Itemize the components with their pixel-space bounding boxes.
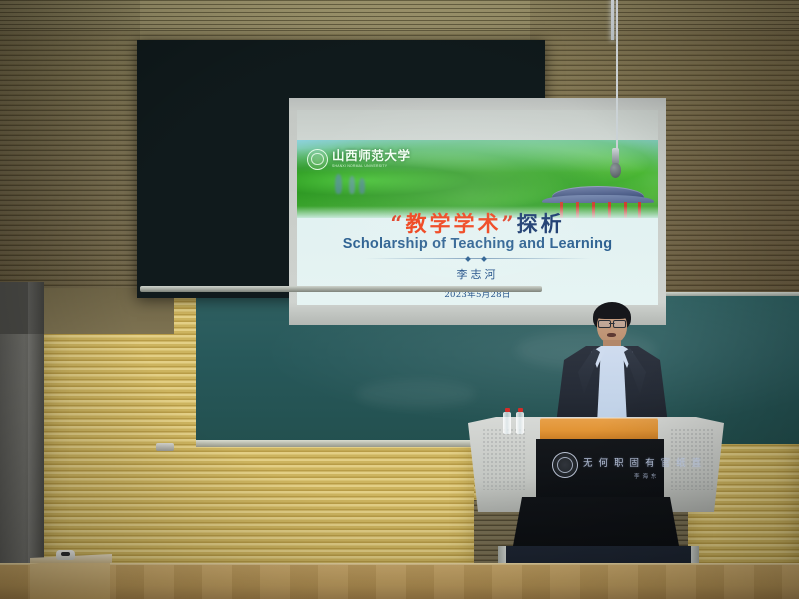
podium-signature: 李 海 东 (634, 472, 657, 480)
photo-person-silhouette (335, 174, 342, 194)
university-name-cn: 山西师范大学 (332, 150, 411, 163)
projector-screen-bottom-bar (140, 286, 542, 292)
bottle-body (503, 412, 511, 434)
photo-person-silhouette (359, 178, 365, 194)
slide-top-band (297, 110, 658, 140)
speaker-fringe (594, 307, 630, 319)
university-name-en: SHANXI NORMAL UNIVERSITY (332, 164, 411, 168)
slide-author: 李志河 (297, 266, 658, 282)
podium-speaker-grille-left (482, 428, 526, 490)
stage-platform (0, 565, 799, 599)
photo-person-silhouette (349, 176, 355, 194)
university-logo: 山西师范大学 SHANXI NORMAL UNIVERSITY (307, 148, 411, 170)
bottle-body (516, 412, 524, 434)
lecture-hall-photo: 山西师范大学 SHANXI NORMAL UNIVERSITY “教学学术”探析… (0, 0, 799, 599)
concrete-column-seam (28, 282, 44, 572)
slide-title-en: Scholarship of Teaching and Learning (297, 236, 658, 252)
quote-close: ” (502, 211, 517, 236)
water-bottle (503, 408, 511, 434)
water-bottle (516, 408, 524, 434)
wall-fixture (156, 443, 174, 451)
speaker-person (556, 302, 668, 424)
microphone-body (612, 148, 619, 164)
title-highlight: 教学学术 (406, 211, 502, 236)
wall-light-seam (611, 0, 614, 40)
eyeglasses-icon (598, 320, 626, 326)
podium-seal-icon (552, 452, 578, 478)
quote-open: “ (390, 211, 405, 236)
title-rest: 探析 (517, 211, 565, 236)
podium-desktop (540, 418, 658, 440)
eyeglass-lens-right (613, 320, 626, 328)
chalk-smudge (356, 380, 476, 408)
wall-shadow-left (0, 0, 140, 300)
slide-title-cn: “教学学术”探析 (297, 212, 658, 235)
stage-small-object (56, 550, 75, 560)
podium-motto-text: 无 何 职 固 有 官 纸 直 (583, 455, 663, 469)
microphone-cable (616, 0, 618, 152)
university-seal-icon (307, 149, 328, 170)
eyeglass-lens-left (598, 320, 611, 328)
presentation-slide: 山西师范大学 SHANXI NORMAL UNIVERSITY “教学学术”探析… (297, 110, 658, 305)
slide-divider (365, 258, 591, 259)
microphone-icon (610, 163, 621, 178)
projector-screen-frame: 山西师范大学 SHANXI NORMAL UNIVERSITY “教学学术”探析… (137, 40, 545, 298)
speaker-mouth (607, 333, 616, 337)
